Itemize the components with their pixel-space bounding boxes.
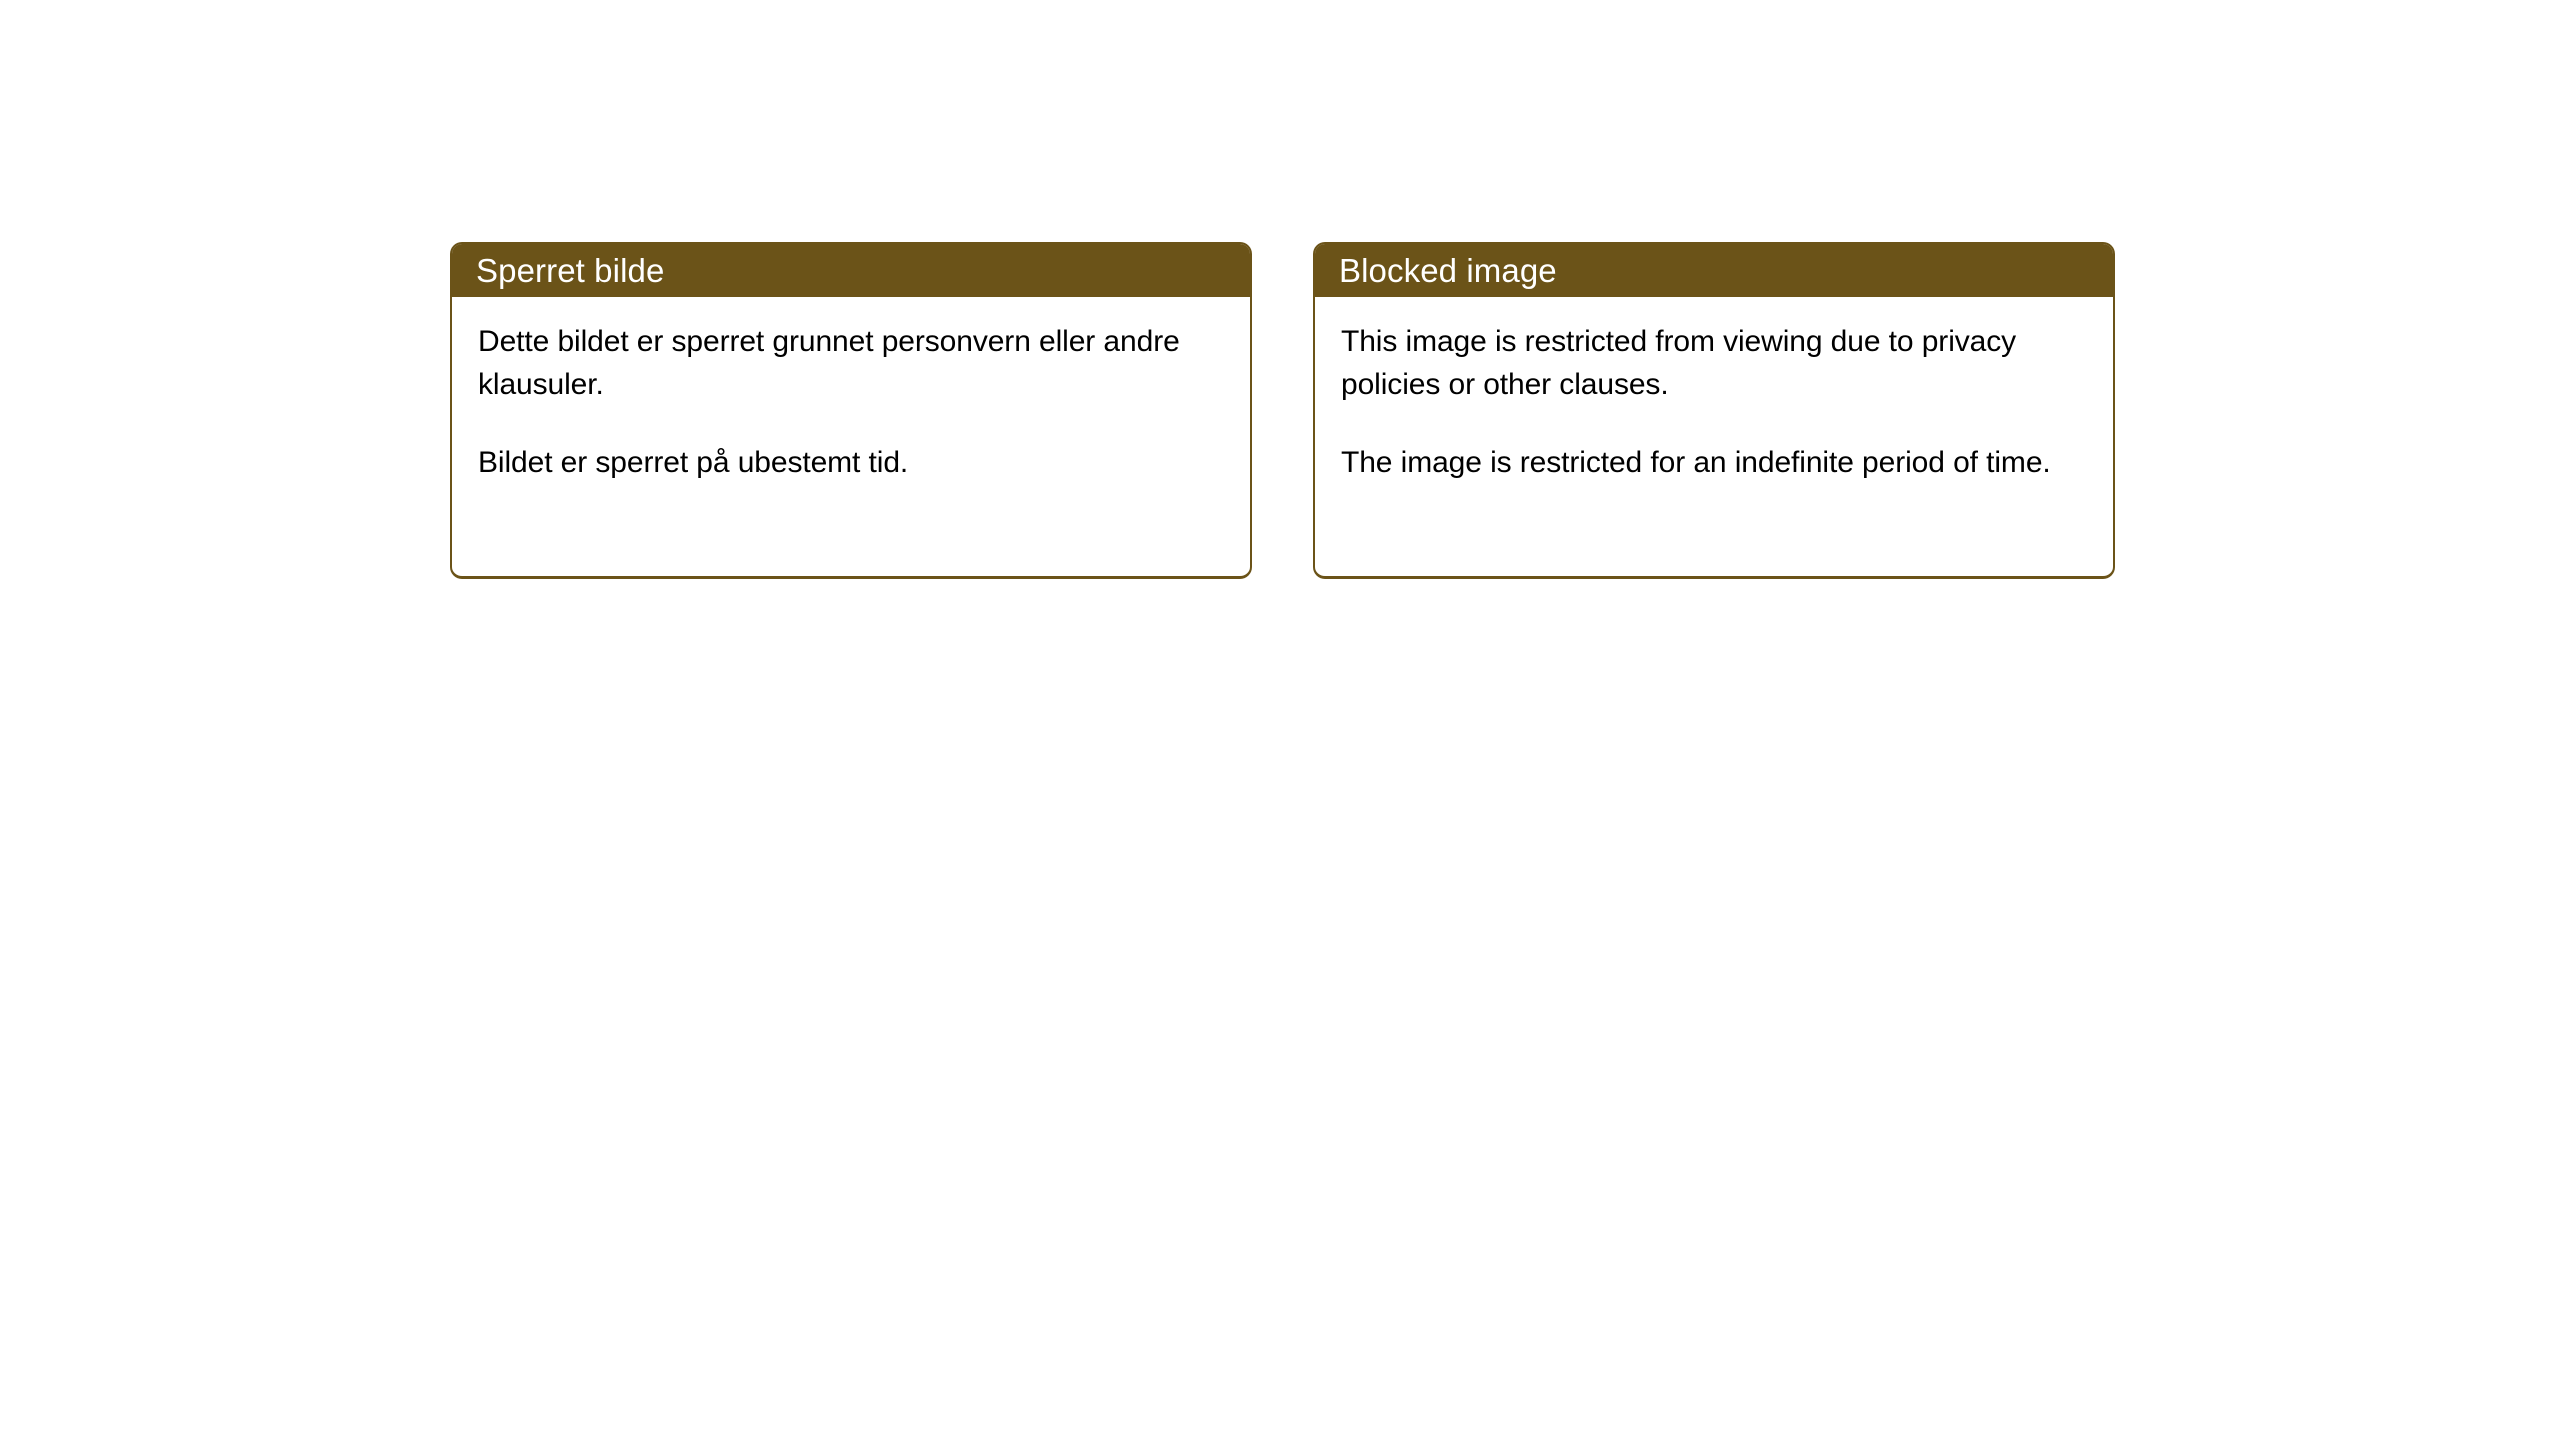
- card-body-no: Dette bildet er sperret grunnet personve…: [452, 297, 1250, 484]
- card-title-no: Sperret bilde: [476, 254, 664, 287]
- blocked-image-notice-card-no: Sperret bilde Dette bildet er sperret gr…: [450, 242, 1252, 579]
- page-root: Sperret bilde Dette bildet er sperret gr…: [0, 0, 2560, 1440]
- card-paragraph-no-2: Bildet er sperret på ubestemt tid.: [478, 441, 1224, 484]
- card-body-en: This image is restricted from viewing du…: [1315, 297, 2113, 484]
- blocked-image-notice-card-en: Blocked image This image is restricted f…: [1313, 242, 2115, 579]
- card-paragraph-en-2: The image is restricted for an indefinit…: [1341, 441, 2087, 484]
- card-header-no: Sperret bilde: [452, 244, 1250, 297]
- card-paragraph-no-1: Dette bildet er sperret grunnet personve…: [478, 320, 1224, 406]
- card-title-en: Blocked image: [1339, 254, 1557, 287]
- card-paragraph-en-1: This image is restricted from viewing du…: [1341, 320, 2087, 406]
- card-header-en: Blocked image: [1315, 244, 2113, 297]
